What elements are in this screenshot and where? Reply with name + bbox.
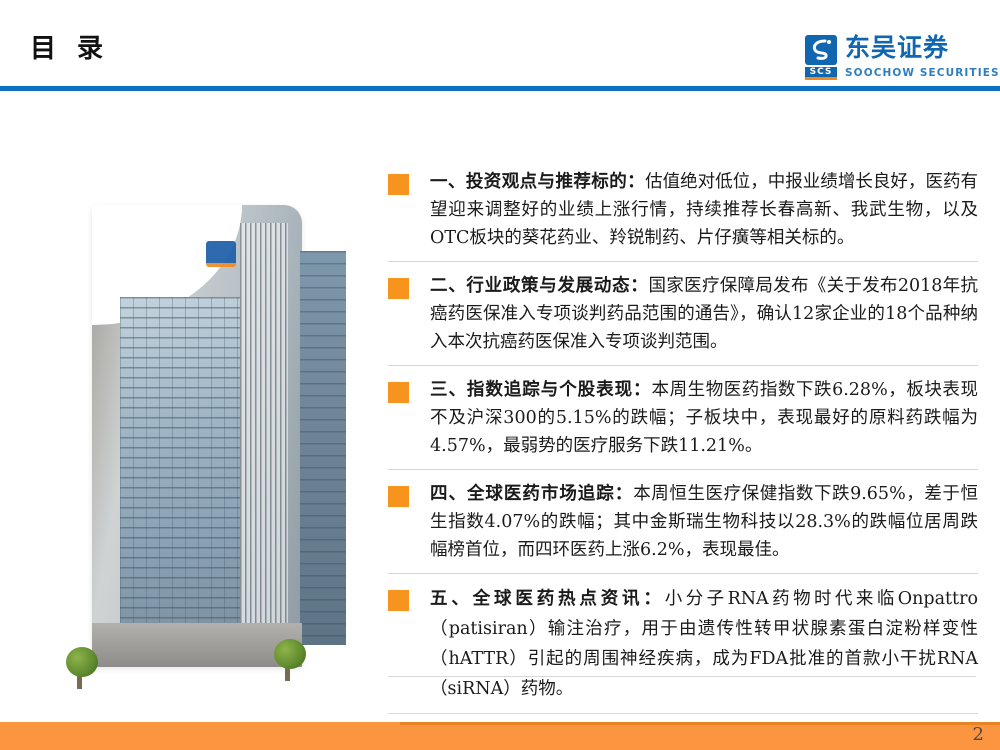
bullet-square-icon: [388, 382, 409, 403]
agenda-separator: [388, 261, 978, 262]
agenda-item-2[interactable]: 二、行业政策与发展动态：国家医疗保障局发布《关于发布2018年抗癌药医保准入专项…: [388, 272, 978, 356]
logo-scs-badge: SCS: [805, 67, 837, 80]
logo-english-name: SOOCHOW SECURITIES: [845, 67, 1000, 80]
building-facade-logo-icon: [206, 241, 236, 267]
agenda-item-4-text: 四、全球医药市场追踪：本周恒生医疗保健指数下跌9.65%，差于恒生指数4.07%…: [430, 480, 978, 564]
building-tower: [92, 205, 302, 667]
soochow-swirl-icon: [805, 35, 837, 65]
bullet-square-icon: [388, 174, 409, 195]
agenda-item-4-heading: 四、全球医药市场追踪：: [430, 484, 633, 504]
page-title: 目 录: [30, 36, 109, 62]
agenda-item-5-text: 五、全球医药热点资讯：小分子RNA药物时代来临Onpattro（patisira…: [430, 584, 978, 704]
agenda-item-5[interactable]: 五、全球医药热点资讯：小分子RNA药物时代来临Onpattro（patisira…: [388, 584, 978, 704]
agenda-item-1-heading: 一、投资观点与推荐标的：: [430, 172, 645, 192]
page-number: 2: [973, 723, 984, 747]
footer-bar-highlight: [400, 722, 1000, 725]
tree-icon: [274, 635, 308, 681]
bullet-square-icon: [388, 590, 409, 611]
headquarters-photo: [62, 150, 362, 695]
agenda-item-1[interactable]: 一、投资观点与推荐标的：估值绝对低位，中报业绩增长良好，医药有望迎来调整好的业绩…: [388, 168, 978, 252]
agenda-separator: [388, 573, 978, 574]
brand-logo: 东吴证券 SCS SOOCHOW SECURITIES: [805, 33, 970, 83]
agenda-separator: [388, 469, 978, 470]
bullet-square-icon: [388, 486, 409, 507]
building-podium: [92, 623, 302, 667]
agenda-item-1-text: 一、投资观点与推荐标的：估值绝对低位，中报业绩增长良好，医药有望迎来调整好的业绩…: [430, 168, 978, 252]
building-vertical-fins: [240, 223, 288, 645]
header-blue-rule: [0, 86, 1000, 91]
footer-orange-bar: [0, 722, 1000, 750]
agenda-item-5-heading: 五、全球医药热点资讯：: [430, 589, 665, 609]
agenda-item-3[interactable]: 三、指数追踪与个股表现：本周生物医药指数下跌6.28%，板块表现不及沪深300的…: [388, 376, 978, 460]
building-right-wing: [300, 251, 346, 645]
logo-chinese-name: 东吴证券: [845, 33, 949, 63]
agenda-item-3-text: 三、指数追踪与个股表现：本周生物医药指数下跌6.28%，板块表现不及沪深300的…: [430, 376, 978, 460]
building-glass-facade: [120, 297, 240, 627]
slide-root: 目 录 东吴证券 SCS SOOCHOW SECURITIES 一、投资观点与推…: [0, 0, 1000, 750]
agenda-item-4[interactable]: 四、全球医药市场追踪：本周恒生医疗保健指数下跌9.65%，差于恒生指数4.07%…: [388, 480, 978, 564]
agenda-item-2-heading: 二、行业政策与发展动态：: [430, 276, 649, 296]
agenda-item-3-heading: 三、指数追踪与个股表现：: [430, 380, 652, 400]
agenda-separator: [388, 713, 978, 714]
footer-separator: [388, 676, 976, 677]
agenda-separator: [388, 365, 978, 366]
bullet-square-icon: [388, 278, 409, 299]
tree-icon: [66, 643, 100, 689]
agenda-list: 一、投资观点与推荐标的：估值绝对低位，中报业绩增长良好，医药有望迎来调整好的业绩…: [388, 168, 978, 750]
agenda-item-2-text: 二、行业政策与发展动态：国家医疗保障局发布《关于发布2018年抗癌药医保准入专项…: [430, 272, 978, 356]
